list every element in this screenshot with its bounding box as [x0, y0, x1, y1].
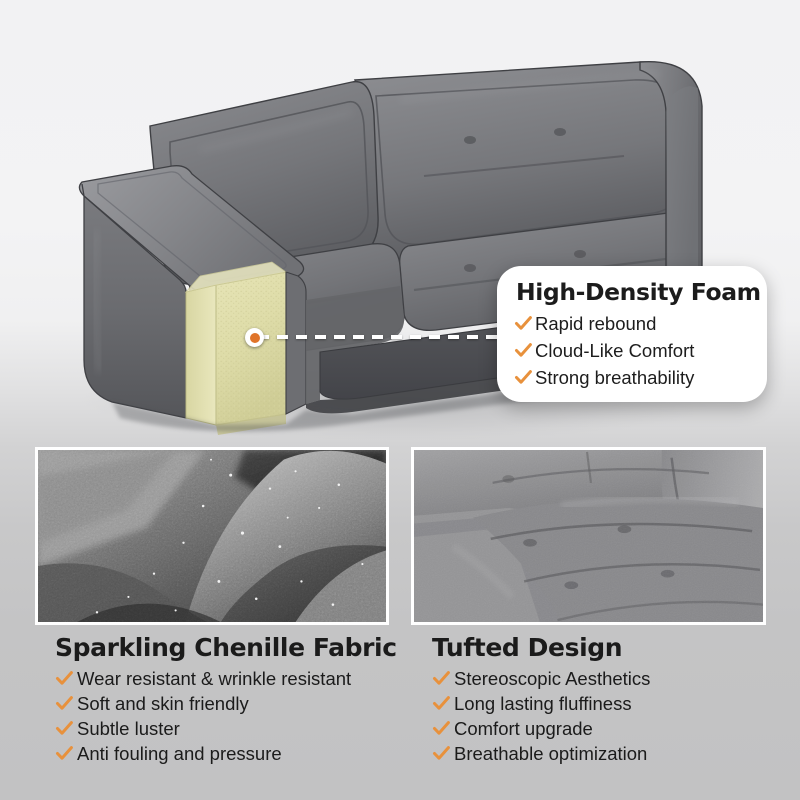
check-icon — [432, 694, 451, 713]
tufted-seat-closeup-photo — [411, 447, 766, 625]
feature-block-tufted: Tufted Design Stereoscopic Aesthetics Lo… — [432, 633, 782, 766]
list-item-label: Anti fouling and pressure — [77, 743, 282, 765]
list-item-label: Comfort upgrade — [454, 718, 593, 740]
list-item-label: Breathable optimization — [454, 743, 647, 765]
list-item: Stereoscopic Aesthetics — [432, 666, 782, 691]
callout-title: High-Density Foam — [516, 278, 761, 306]
check-icon — [55, 669, 74, 688]
list-item: Long lasting fluffiness — [432, 691, 782, 716]
high-density-foam-callout-card: High-Density Foam Rapid rebound Cloud-Li… — [497, 266, 767, 402]
hotspot-dot-icon[interactable] — [245, 328, 264, 347]
check-icon — [55, 744, 74, 763]
feature-title: Sparkling Chenille Fabric — [55, 633, 415, 662]
check-icon — [514, 314, 533, 333]
check-icon — [55, 694, 74, 713]
check-icon — [55, 719, 74, 738]
check-icon — [432, 744, 451, 763]
list-item: Anti fouling and pressure — [55, 741, 415, 766]
check-icon — [432, 719, 451, 738]
check-icon — [514, 341, 533, 360]
list-item-label: Subtle luster — [77, 718, 180, 740]
list-item-label: Strong breathability — [535, 367, 694, 389]
check-icon — [514, 368, 533, 387]
list-item: Soft and skin friendly — [55, 691, 415, 716]
chenille-fabric-macro-photo — [35, 447, 389, 625]
list-item-label: Wear resistant & wrinkle resistant — [77, 668, 351, 690]
check-icon — [432, 669, 451, 688]
feature-title: Tufted Design — [432, 633, 782, 662]
list-item: Comfort upgrade — [432, 716, 782, 741]
infographic-canvas: High-Density Foam Rapid rebound Cloud-Li… — [0, 0, 800, 800]
list-item: Breathable optimization — [432, 741, 782, 766]
list-item: Cloud-Like Comfort — [514, 337, 694, 364]
feature-block-fabric: Sparkling Chenille Fabric Wear resistant… — [55, 633, 415, 766]
list-item-label: Soft and skin friendly — [77, 693, 249, 715]
list-item-label: Stereoscopic Aesthetics — [454, 668, 650, 690]
list-item: Rapid rebound — [514, 310, 694, 337]
list-item-label: Long lasting fluffiness — [454, 693, 632, 715]
dashed-leader-line — [258, 335, 500, 339]
list-item: Wear resistant & wrinkle resistant — [55, 666, 415, 691]
list-item-label: Rapid rebound — [535, 313, 656, 335]
list-item: Subtle luster — [55, 716, 415, 741]
list-item-label: Cloud-Like Comfort — [535, 340, 694, 362]
list-item: Strong breathability — [514, 364, 694, 391]
callout-benefit-list: Rapid rebound Cloud-Like Comfort Strong … — [514, 310, 694, 391]
